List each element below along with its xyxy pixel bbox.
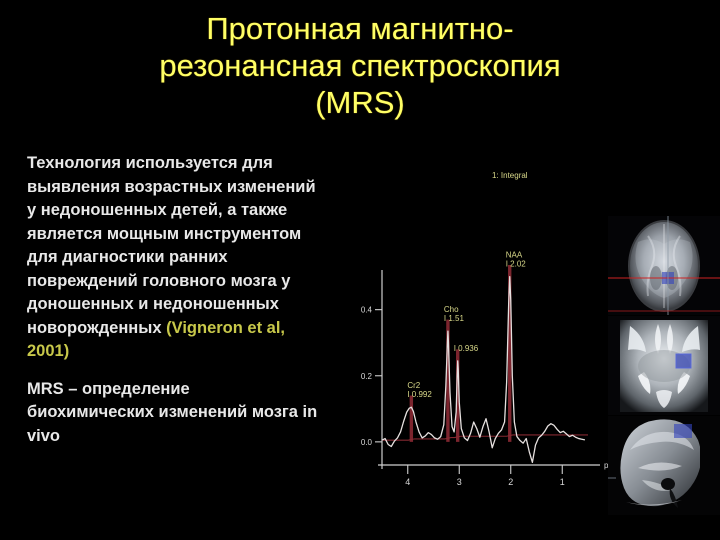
body-paragraph-1-main: Технология используется для выявления во… <box>27 154 316 337</box>
peak-value-cho: I 1.51 <box>444 314 465 323</box>
x-tick-label: 3 <box>457 477 462 487</box>
body-text: Технология используется для выявления во… <box>27 152 319 462</box>
y-tick-label: 0.0 <box>361 438 373 447</box>
y-tick-label: 0.2 <box>361 372 373 381</box>
title-line-2: резонансная спектроскопия <box>60 47 660 84</box>
body-paragraph-2: MRS – определение биохимических изменени… <box>27 378 319 449</box>
peak-label-naa: NAA <box>506 251 523 260</box>
page-title: Протонная магнитно- резонансная спектрос… <box>60 10 660 121</box>
voxel-box <box>674 424 692 438</box>
mri-axial-t1 <box>608 216 720 315</box>
y-tick-label: 0.4 <box>361 306 373 315</box>
mrs-spectrum-chart: 1: Integral0.40.20.04321ppmCr2I 0.992Cho… <box>340 160 608 510</box>
peak-value-naa: I 2.02 <box>506 260 527 269</box>
x-tick-label: 1 <box>560 477 565 487</box>
spectrum-svg: 1: Integral0.40.20.04321ppmCr2I 0.992Cho… <box>340 160 608 510</box>
peak-value-cr: I 0.936 <box>454 344 479 353</box>
title-line-3: (MRS) <box>60 84 660 121</box>
title-line-1: Протонная магнитно- <box>60 10 660 47</box>
x-tick-label: 4 <box>405 477 410 487</box>
body-paragraph-1: Технология используется для выявления во… <box>27 152 319 364</box>
mri-image-column <box>608 216 720 516</box>
mri-axial-t2 <box>608 316 720 415</box>
peak-label-cho: Cho <box>444 305 459 314</box>
x-tick-label: 2 <box>508 477 513 487</box>
peak-value-cr2: I 0.992 <box>407 390 432 399</box>
slide: Протонная магнитно- резонансная спектрос… <box>0 0 720 540</box>
peak-label-cr2: Cr2 <box>407 381 420 390</box>
chart-title: 1: Integral <box>492 171 528 180</box>
mri-sagittal-t1 <box>608 416 720 515</box>
voxel-box <box>676 354 691 368</box>
